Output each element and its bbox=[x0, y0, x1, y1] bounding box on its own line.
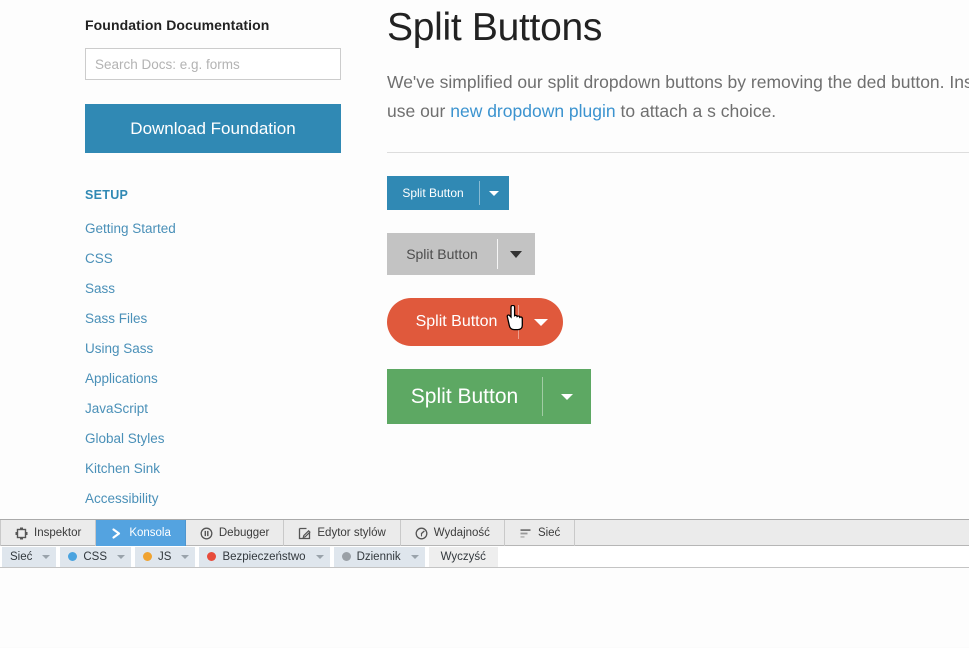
devtools-tab-label: Edytor stylów bbox=[317, 527, 385, 539]
intro-text-1: We've simplified our split dropdown butt… bbox=[387, 72, 886, 92]
new-dropdown-plugin-link[interactable]: new dropdown plugin bbox=[450, 101, 615, 121]
css-status-dot bbox=[68, 552, 77, 561]
sidebar-item-kitchen-sink[interactable]: Kitchen Sink bbox=[85, 454, 341, 484]
main-content: Split Buttons We've simplified our split… bbox=[387, 0, 969, 424]
performance-gauge-icon bbox=[415, 527, 428, 540]
sidebar-nav-list: Getting Started CSS Sass Sass Files Usin… bbox=[85, 214, 341, 514]
split-button-small-toggle[interactable] bbox=[497, 233, 535, 275]
filter-label: CSS bbox=[83, 551, 107, 563]
split-button-tiny-label[interactable]: Split Button bbox=[387, 176, 479, 210]
documentation-sidebar: Foundation Documentation Download Founda… bbox=[85, 0, 341, 514]
devtools-tab-label: Wydajność bbox=[434, 527, 490, 539]
sidebar-item-getting-started[interactable]: Getting Started bbox=[85, 214, 341, 244]
section-divider bbox=[387, 152, 969, 153]
style-editor-pencil-icon bbox=[298, 527, 311, 540]
devtools-tab-debugger[interactable]: Debugger bbox=[186, 520, 285, 546]
sidebar-link-label[interactable]: Kitchen Sink bbox=[85, 461, 160, 476]
intro-text-3: to attach a s bbox=[616, 101, 716, 121]
browser-viewport: Foundation Documentation Download Founda… bbox=[0, 0, 969, 519]
split-button-row-tiny: Split Button bbox=[387, 176, 969, 210]
sidebar-link-label[interactable]: Getting Started bbox=[85, 221, 176, 236]
devtools-tab-label: Sieć bbox=[538, 527, 560, 539]
sidebar-link-label[interactable]: CSS bbox=[85, 251, 113, 266]
sidebar-item-sass-files[interactable]: Sass Files bbox=[85, 304, 341, 334]
intro-paragraph: We've simplified our split dropdown butt… bbox=[387, 68, 969, 126]
log-status-dot bbox=[342, 552, 351, 561]
split-button-medium[interactable]: Split Button bbox=[387, 298, 563, 346]
sidebar-item-sass[interactable]: Sass bbox=[85, 274, 341, 304]
devtools-tabbar: Inspektor Konsola Debugger bbox=[0, 520, 969, 546]
security-status-dot bbox=[207, 552, 216, 561]
console-chevron-icon bbox=[110, 527, 123, 540]
sidebar-section-setup: SETUP bbox=[85, 188, 341, 202]
filter-button-siec[interactable]: Sieć bbox=[2, 547, 56, 567]
chevron-down-icon[interactable] bbox=[42, 555, 50, 559]
devtools-tab-konsola[interactable]: Konsola bbox=[96, 520, 186, 546]
devtools-panel: Inspektor Konsola Debugger bbox=[0, 519, 969, 648]
split-button-large-label[interactable]: Split Button bbox=[387, 369, 542, 424]
sidebar-item-accessibility[interactable]: Accessibility bbox=[85, 484, 341, 514]
chevron-down-icon[interactable] bbox=[411, 555, 419, 559]
sidebar-link-label[interactable]: Accessibility bbox=[85, 491, 159, 506]
split-button-row-small: Split Button bbox=[387, 233, 969, 275]
split-button-small[interactable]: Split Button bbox=[387, 233, 535, 275]
split-button-tiny-toggle[interactable] bbox=[479, 176, 509, 210]
sidebar-item-global-styles[interactable]: Global Styles bbox=[85, 424, 341, 454]
debugger-pause-icon bbox=[200, 527, 213, 540]
chevron-down-icon bbox=[489, 191, 499, 196]
devtools-tab-label: Konsola bbox=[129, 527, 171, 539]
filter-button-js[interactable]: JS bbox=[135, 547, 195, 567]
sidebar-item-using-sass[interactable]: Using Sass bbox=[85, 334, 341, 364]
chevron-down-icon[interactable] bbox=[181, 555, 189, 559]
devtools-tab-inspektor[interactable]: Inspektor bbox=[0, 520, 96, 546]
sidebar-link-label[interactable]: Using Sass bbox=[85, 341, 153, 356]
filter-label: Sieć bbox=[10, 551, 32, 563]
inspector-icon bbox=[15, 527, 28, 540]
page-title: Split Buttons bbox=[387, 0, 969, 51]
filter-button-dziennik[interactable]: Dziennik bbox=[334, 547, 425, 567]
sidebar-link-label[interactable]: Global Styles bbox=[85, 431, 165, 446]
sidebar-item-applications[interactable]: Applications bbox=[85, 364, 341, 394]
console-filter-bar: Sieć CSS JS Bezpieczeństwo Dziennik Wycz… bbox=[0, 546, 969, 568]
split-button-row-large: Split Button bbox=[387, 369, 969, 424]
sidebar-item-css[interactable]: CSS bbox=[85, 244, 341, 274]
sidebar-title: Foundation Documentation bbox=[85, 0, 341, 33]
chevron-down-icon bbox=[561, 394, 573, 400]
devtools-tab-siec[interactable]: Sieć bbox=[505, 520, 575, 546]
sidebar-link-label[interactable]: JavaScript bbox=[85, 401, 148, 416]
chevron-down-icon[interactable] bbox=[117, 555, 125, 559]
sidebar-link-label[interactable]: Sass bbox=[85, 281, 115, 296]
filter-label: Dziennik bbox=[357, 551, 401, 563]
console-output-area[interactable] bbox=[0, 568, 969, 647]
split-button-tiny[interactable]: Split Button bbox=[387, 176, 509, 210]
filter-label: Bezpieczeństwo bbox=[222, 551, 305, 563]
chevron-down-icon bbox=[510, 251, 522, 258]
split-button-medium-label[interactable]: Split Button bbox=[387, 298, 518, 346]
split-button-large-toggle[interactable] bbox=[542, 369, 591, 424]
split-button-row-medium: Split Button bbox=[387, 298, 969, 346]
split-button-small-label[interactable]: Split Button bbox=[387, 233, 497, 275]
devtools-tab-edytor-stylow[interactable]: Edytor stylów bbox=[284, 520, 400, 546]
search-input[interactable] bbox=[85, 48, 341, 80]
chevron-down-icon[interactable] bbox=[316, 555, 324, 559]
network-bars-icon bbox=[519, 527, 532, 540]
filter-button-bezpieczenstwo[interactable]: Bezpieczeństwo bbox=[199, 547, 329, 567]
download-foundation-button[interactable]: Download Foundation bbox=[85, 104, 341, 153]
filter-button-css[interactable]: CSS bbox=[60, 547, 131, 567]
devtools-tab-label: Inspektor bbox=[34, 527, 81, 539]
sidebar-link-label[interactable]: Applications bbox=[85, 371, 158, 386]
chevron-down-icon bbox=[534, 319, 548, 326]
split-button-large[interactable]: Split Button bbox=[387, 369, 591, 424]
split-button-medium-toggle[interactable] bbox=[518, 298, 563, 346]
intro-text-4: choice. bbox=[721, 101, 776, 121]
filter-label: JS bbox=[158, 551, 171, 563]
devtools-tab-wydajnosc[interactable]: Wydajność bbox=[401, 520, 505, 546]
sidebar-item-javascript[interactable]: JavaScript bbox=[85, 394, 341, 424]
devtools-tab-label: Debugger bbox=[219, 527, 270, 539]
sidebar-link-label[interactable]: Sass Files bbox=[85, 311, 147, 326]
js-status-dot bbox=[143, 552, 152, 561]
clear-console-button[interactable]: Wyczyść bbox=[429, 547, 498, 567]
